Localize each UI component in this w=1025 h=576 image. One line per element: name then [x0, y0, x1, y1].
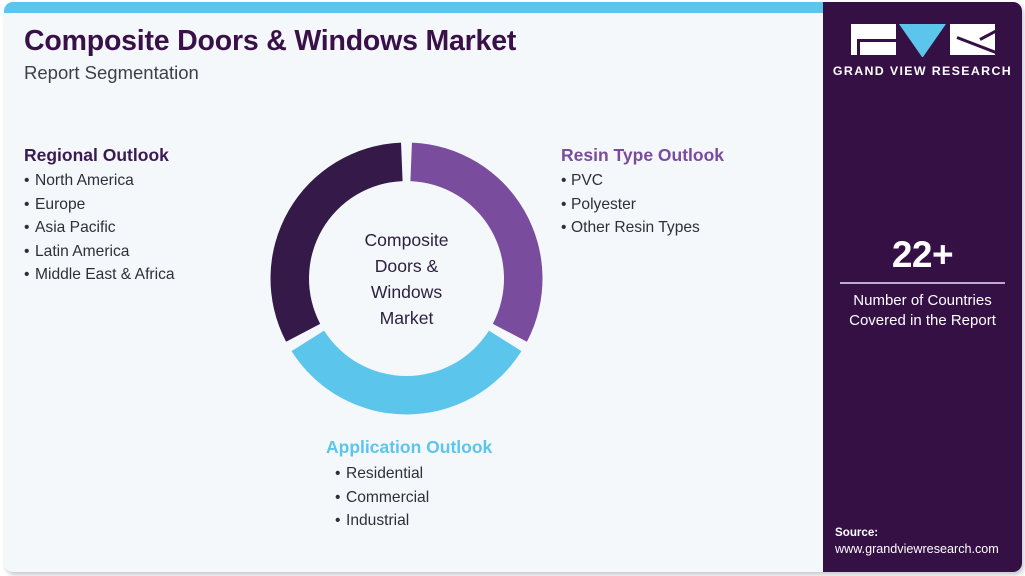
regional-outlook-list: North America Europe Asia Pacific Latin … [24, 169, 175, 287]
page-subtitle: Report Segmentation [24, 61, 804, 85]
logo-wordmark: GRAND VIEW RESEARCH [823, 64, 1022, 78]
stat-caption: Number of Countries Covered in the Repor… [823, 291, 1022, 332]
resin-type-outlook-heading: Resin Type Outlook [561, 144, 724, 166]
list-item: Latin America [24, 240, 175, 264]
source-block: Source: www.grandviewresearch.com [835, 525, 1022, 558]
stat-caption-line: Number of Countries [823, 291, 1022, 312]
list-item: Residential [326, 462, 492, 486]
regional-outlook-block: Regional Outlook North America Europe As… [24, 144, 175, 287]
list-item: Industrial [326, 509, 492, 533]
infographic-card: Composite Doors & Windows Market Report … [4, 2, 1022, 572]
stat-divider [840, 282, 1005, 284]
list-item: Commercial [326, 486, 492, 510]
donut-center-line: Market [380, 305, 434, 331]
list-item: Asia Pacific [24, 216, 175, 240]
brand-logo: GRAND VIEW RESEARCH [823, 24, 1022, 78]
application-outlook-block: Application Outlook Residential Commerci… [326, 436, 492, 533]
list-item: PVC [561, 169, 724, 193]
donut-center-line: Doors & [375, 253, 439, 279]
logo-letter-r-icon [950, 24, 995, 55]
donut-chart: Composite Doors & Windows Market [269, 141, 544, 416]
application-outlook-heading: Application Outlook [326, 436, 492, 458]
stat-value: 22+ [823, 234, 1022, 276]
list-item: North America [24, 169, 175, 193]
donut-center-line: Windows [371, 279, 442, 305]
page-title: Composite Doors & Windows Market [24, 24, 804, 58]
source-label: Source: [835, 525, 1022, 541]
resin-type-outlook-list: PVC Polyester Other Resin Types [561, 169, 724, 240]
application-outlook-list: Residential Commercial Industrial [326, 462, 492, 533]
list-item: Polyester [561, 193, 724, 217]
stat-caption-line: Covered in the Report [823, 311, 1022, 332]
regional-outlook-heading: Regional Outlook [24, 144, 175, 166]
list-item: Middle East & Africa [24, 263, 175, 287]
logo-triangle-v-icon [899, 24, 946, 57]
donut-center-line: Composite [364, 227, 448, 253]
side-panel: GRAND VIEW RESEARCH 22+ Number of Countr… [823, 2, 1022, 572]
donut-center-label: Composite Doors & Windows Market [269, 141, 544, 416]
top-accent-bar [4, 2, 823, 13]
header: Composite Doors & Windows Market Report … [24, 24, 804, 85]
source-url[interactable]: www.grandviewresearch.com [835, 541, 1022, 558]
logo-mark [851, 24, 995, 55]
logo-letter-g-icon [851, 24, 896, 55]
stat-block: 22+ Number of Countries Covered in the R… [823, 234, 1022, 332]
resin-type-outlook-block: Resin Type Outlook PVC Polyester Other R… [561, 144, 724, 240]
list-item: Europe [24, 193, 175, 217]
list-item: Other Resin Types [561, 216, 724, 240]
